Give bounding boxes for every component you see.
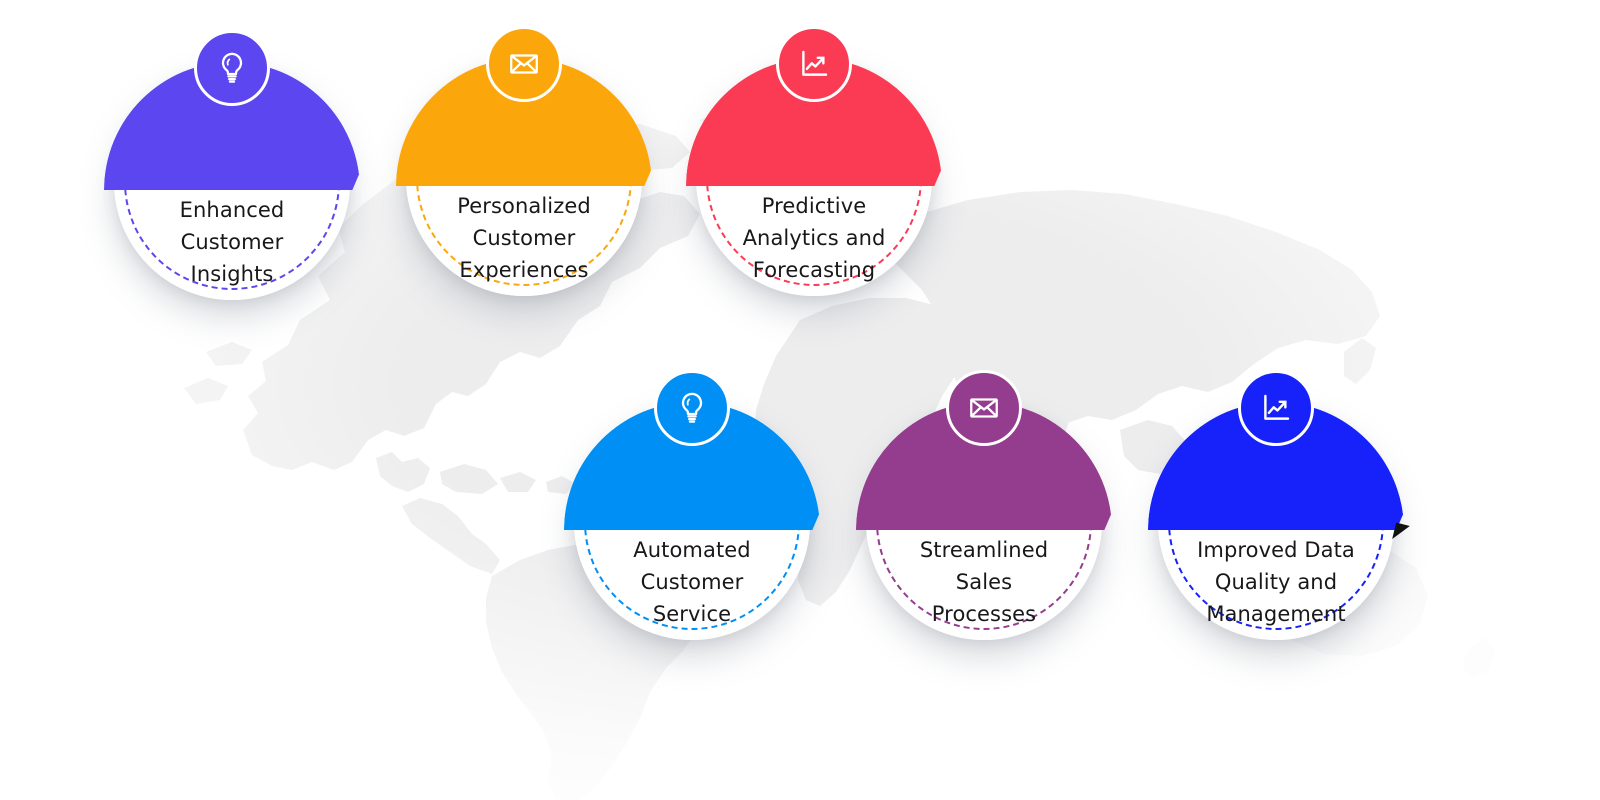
lightbulb-icon	[194, 30, 270, 106]
card-label: StreamlinedSalesProcesses	[874, 534, 1094, 630]
lightbulb-icon	[654, 370, 730, 446]
card-improved-data-quality-and-management[interactable]: Improved DataQuality andManagement	[1152, 396, 1400, 644]
card-label: AutomatedCustomerService	[582, 534, 802, 630]
envelope-icon	[946, 370, 1022, 446]
envelope-icon	[486, 26, 562, 102]
infographic-stage: EnhancedCustomerInsights PersonalizedCus…	[0, 0, 1600, 800]
card-label: EnhancedCustomerInsights	[122, 194, 342, 290]
card-streamlined-sales-processes[interactable]: StreamlinedSalesProcesses	[860, 396, 1108, 644]
card-label: PersonalizedCustomerExperiences	[414, 190, 634, 286]
chart-trending-up-icon	[776, 26, 852, 102]
card-label: PredictiveAnalytics andForecasting	[704, 190, 924, 286]
card-enhanced-customer-insights[interactable]: EnhancedCustomerInsights	[108, 56, 356, 304]
card-grid: EnhancedCustomerInsights PersonalizedCus…	[0, 0, 1600, 800]
card-automated-customer-service[interactable]: AutomatedCustomerService	[568, 396, 816, 644]
card-label: Improved DataQuality andManagement	[1166, 534, 1386, 630]
chart-trending-up-icon	[1238, 370, 1314, 446]
card-predictive-analytics-and-forecasting[interactable]: PredictiveAnalytics andForecasting	[690, 52, 938, 300]
card-personalized-customer-experiences[interactable]: PersonalizedCustomerExperiences	[400, 52, 648, 300]
